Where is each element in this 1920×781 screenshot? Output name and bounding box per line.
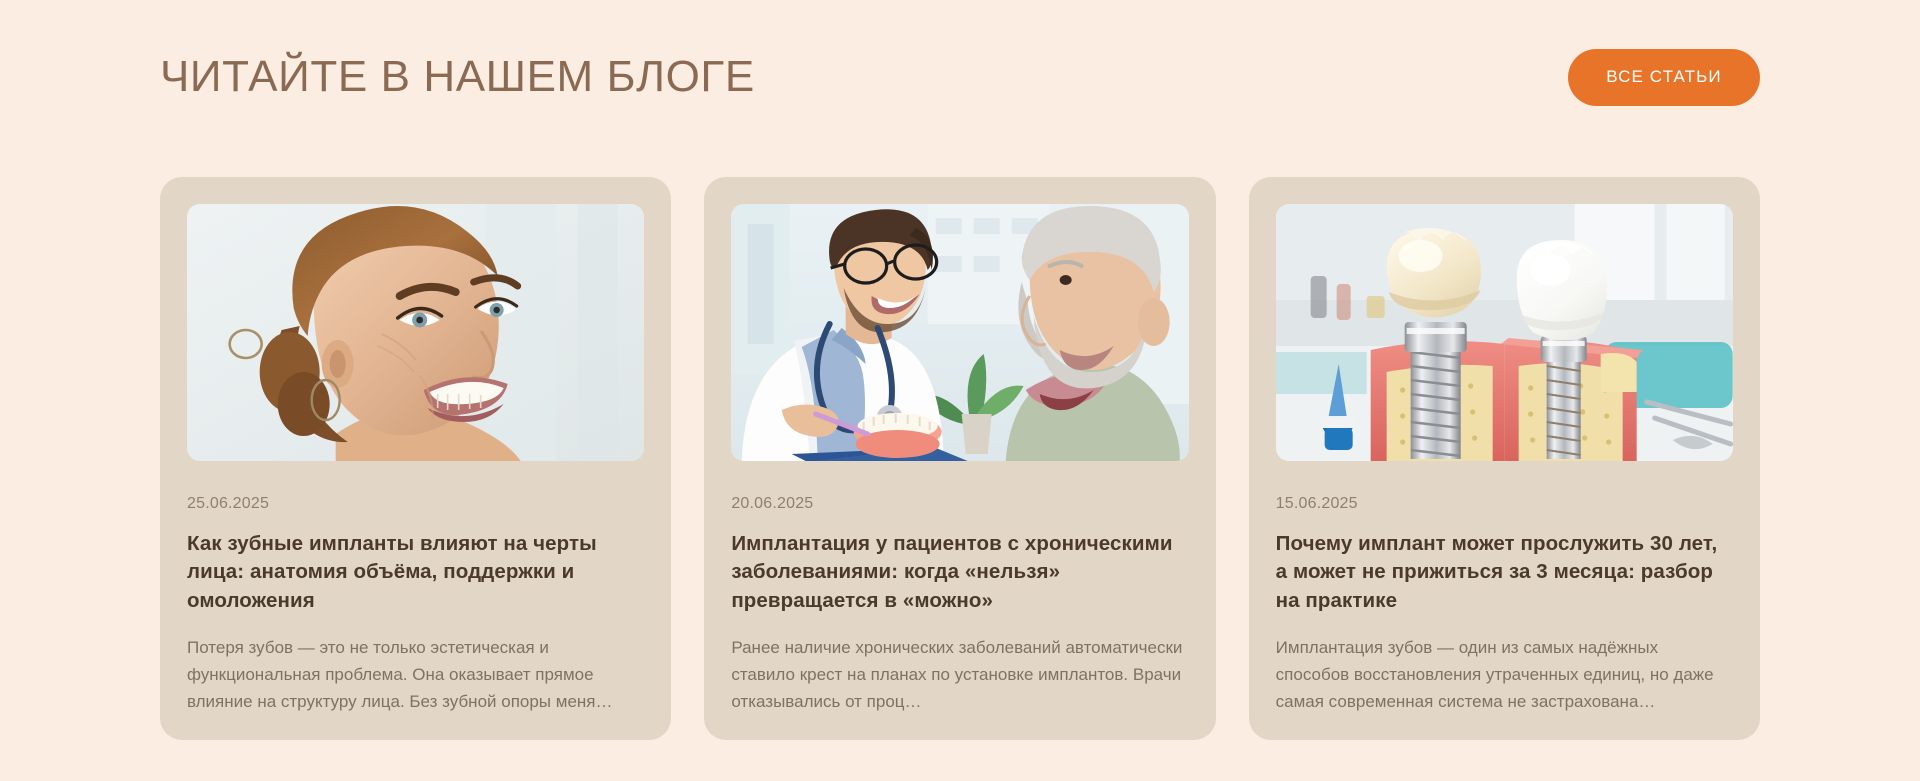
- blog-cards-row: 25.06.2025 Как зубные импланты влияют на…: [160, 177, 1760, 740]
- all-articles-button[interactable]: ВСЕ СТАТЬИ: [1568, 49, 1760, 106]
- blog-card[interactable]: 15.06.2025 Почему имплант может прослужи…: [1249, 177, 1760, 740]
- card-date: 25.06.2025: [187, 495, 644, 513]
- page-title: ЧИТАЙТЕ В НАШЕМ БЛОГЕ: [160, 54, 755, 100]
- card-date: 20.06.2025: [731, 495, 1188, 513]
- card-title: Как зубные импланты влияют на черты лица…: [187, 530, 644, 615]
- dental-implant-cross-section-model-image: [1276, 204, 1733, 461]
- dentist-explaining-dental-model-to-elderly-patient-image: [731, 204, 1188, 461]
- card-thumbnail: [1276, 204, 1733, 461]
- card-excerpt: Ранее наличие хронических заболеваний ав…: [731, 635, 1188, 716]
- card-thumbnail: [731, 204, 1188, 461]
- card-date: 15.06.2025: [1276, 495, 1733, 513]
- smiling-mature-woman-portrait-image: [187, 204, 644, 461]
- card-title: Имплантация у пациентов с хроническими з…: [731, 530, 1188, 615]
- card-excerpt: Имплантация зубов — один из самых надёжн…: [1276, 635, 1733, 716]
- blog-section: ЧИТАЙТЕ В НАШЕМ БЛОГЕ ВСЕ СТАТЬИ: [0, 0, 1920, 781]
- blog-card[interactable]: 25.06.2025 Как зубные импланты влияют на…: [160, 177, 671, 740]
- card-thumbnail: [187, 204, 644, 461]
- blog-card[interactable]: 20.06.2025 Имплантация у пациентов с хро…: [704, 177, 1215, 740]
- section-header: ЧИТАЙТЕ В НАШЕМ БЛОГЕ ВСЕ СТАТЬИ: [160, 46, 1760, 108]
- card-title: Почему имплант может прослужить 30 лет, …: [1276, 530, 1733, 615]
- card-excerpt: Потеря зубов — это не только эстетическа…: [187, 635, 644, 716]
